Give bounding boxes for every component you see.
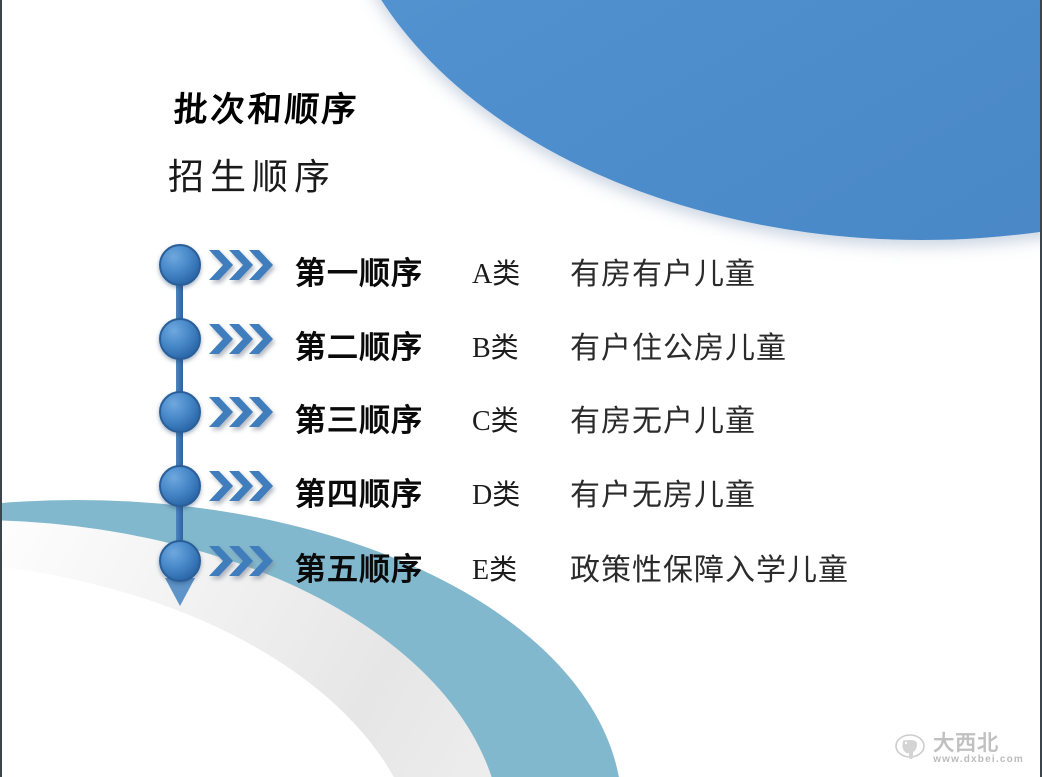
order-label: 第四顺序 <box>295 469 423 514</box>
category-label: D类 <box>472 473 520 513</box>
description-label: 有户无房儿童 <box>570 470 756 514</box>
watermark-url: www.dxbei.com <box>933 755 1024 765</box>
triple-chevron-right-icon <box>207 469 279 503</box>
watermark-brand: 大西北 <box>933 732 1024 753</box>
order-label: 第三顺序 <box>295 395 423 440</box>
triple-chevron-right-icon <box>207 322 279 356</box>
order-label: 第一顺序 <box>295 248 423 293</box>
description-label: 有户住公房儿童 <box>570 323 787 367</box>
elephant-logo-icon <box>893 731 927 765</box>
category-label: C类 <box>472 399 519 439</box>
blue-sphere-bullet-icon <box>159 318 201 360</box>
order-label: 第五顺序 <box>295 544 423 589</box>
slide-canvas: 批次和顺序 招生顺序 第一顺序 A类 有房有户儿童 第二顺序 <box>0 0 1042 777</box>
triple-chevron-right-icon <box>207 248 279 282</box>
blue-sphere-bullet-icon <box>159 540 201 582</box>
blue-sphere-bullet-icon <box>159 244 201 286</box>
triple-chevron-right-icon <box>207 395 279 429</box>
description-label: 政策性保障入学儿童 <box>570 545 849 589</box>
watermark: 大西北 www.dxbei.com <box>893 731 1024 765</box>
description-label: 有房有户儿童 <box>570 249 756 293</box>
watermark-text: 大西北 www.dxbei.com <box>933 732 1024 765</box>
category-label: B类 <box>472 326 519 366</box>
category-label: E类 <box>472 548 517 588</box>
description-label: 有房无户儿童 <box>570 396 756 440</box>
blue-sphere-bullet-icon <box>159 391 201 433</box>
admission-order-timeline: 第一顺序 A类 有房有户儿童 第二顺序 B类 有户住公房儿童 第三顺序 <box>2 0 1042 777</box>
blue-sphere-bullet-icon <box>159 465 201 507</box>
order-label: 第二顺序 <box>295 322 423 367</box>
down-arrow-icon <box>165 578 195 606</box>
triple-chevron-right-icon <box>207 544 279 578</box>
category-label: A类 <box>472 252 520 292</box>
